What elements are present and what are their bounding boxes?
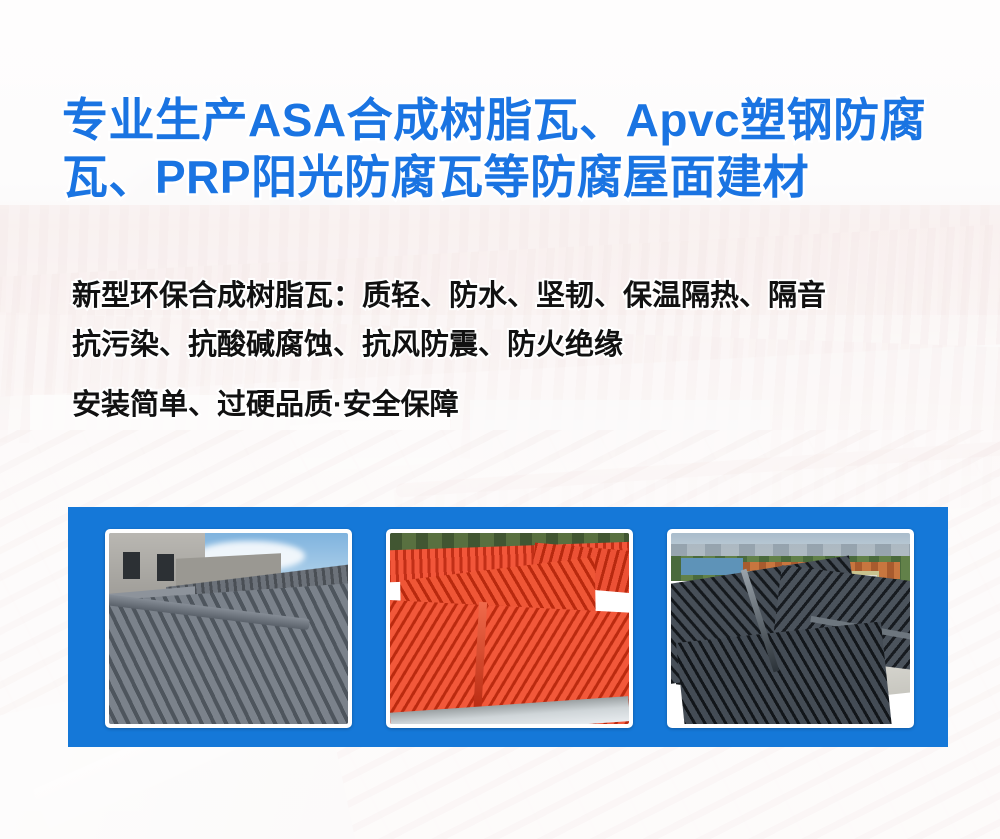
gallery-photo-1[interactable] — [105, 529, 352, 728]
subcopy-line-3: 安装简单、过硬品质·安全保障 — [72, 381, 962, 430]
banner-headline: 专业生产ASA合成树脂瓦、Apvc塑钢防腐瓦、PRP阳光防腐瓦等防腐屋面建材 — [62, 92, 952, 206]
gallery-photo-2[interactable] — [386, 529, 633, 728]
gallery-photo-row — [105, 529, 914, 728]
banner-subcopy: 新型环保合成树脂瓦：质轻、防水、坚韧、保温隔热、隔音 抗污染、抗酸碱腐蚀、抗风防… — [72, 272, 962, 430]
gallery-panel — [68, 507, 948, 747]
roof-photo-icon — [390, 533, 629, 724]
product-banner: 专业生产ASA合成树脂瓦、Apvc塑钢防腐瓦、PRP阳光防腐瓦等防腐屋面建材 新… — [0, 0, 1000, 839]
subcopy-line-1: 新型环保合成树脂瓦：质轻、防水、坚韧、保温隔热、隔音 — [72, 272, 962, 321]
gallery-photo-3[interactable] — [667, 529, 914, 728]
roof-photo-icon — [109, 533, 348, 724]
roof-photo-icon — [671, 533, 910, 724]
subcopy-line-2: 抗污染、抗酸碱腐蚀、抗风防震、防火绝缘 — [72, 321, 962, 370]
banner-content: 专业生产ASA合成树脂瓦、Apvc塑钢防腐瓦、PRP阳光防腐瓦等防腐屋面建材 新… — [0, 0, 1000, 839]
